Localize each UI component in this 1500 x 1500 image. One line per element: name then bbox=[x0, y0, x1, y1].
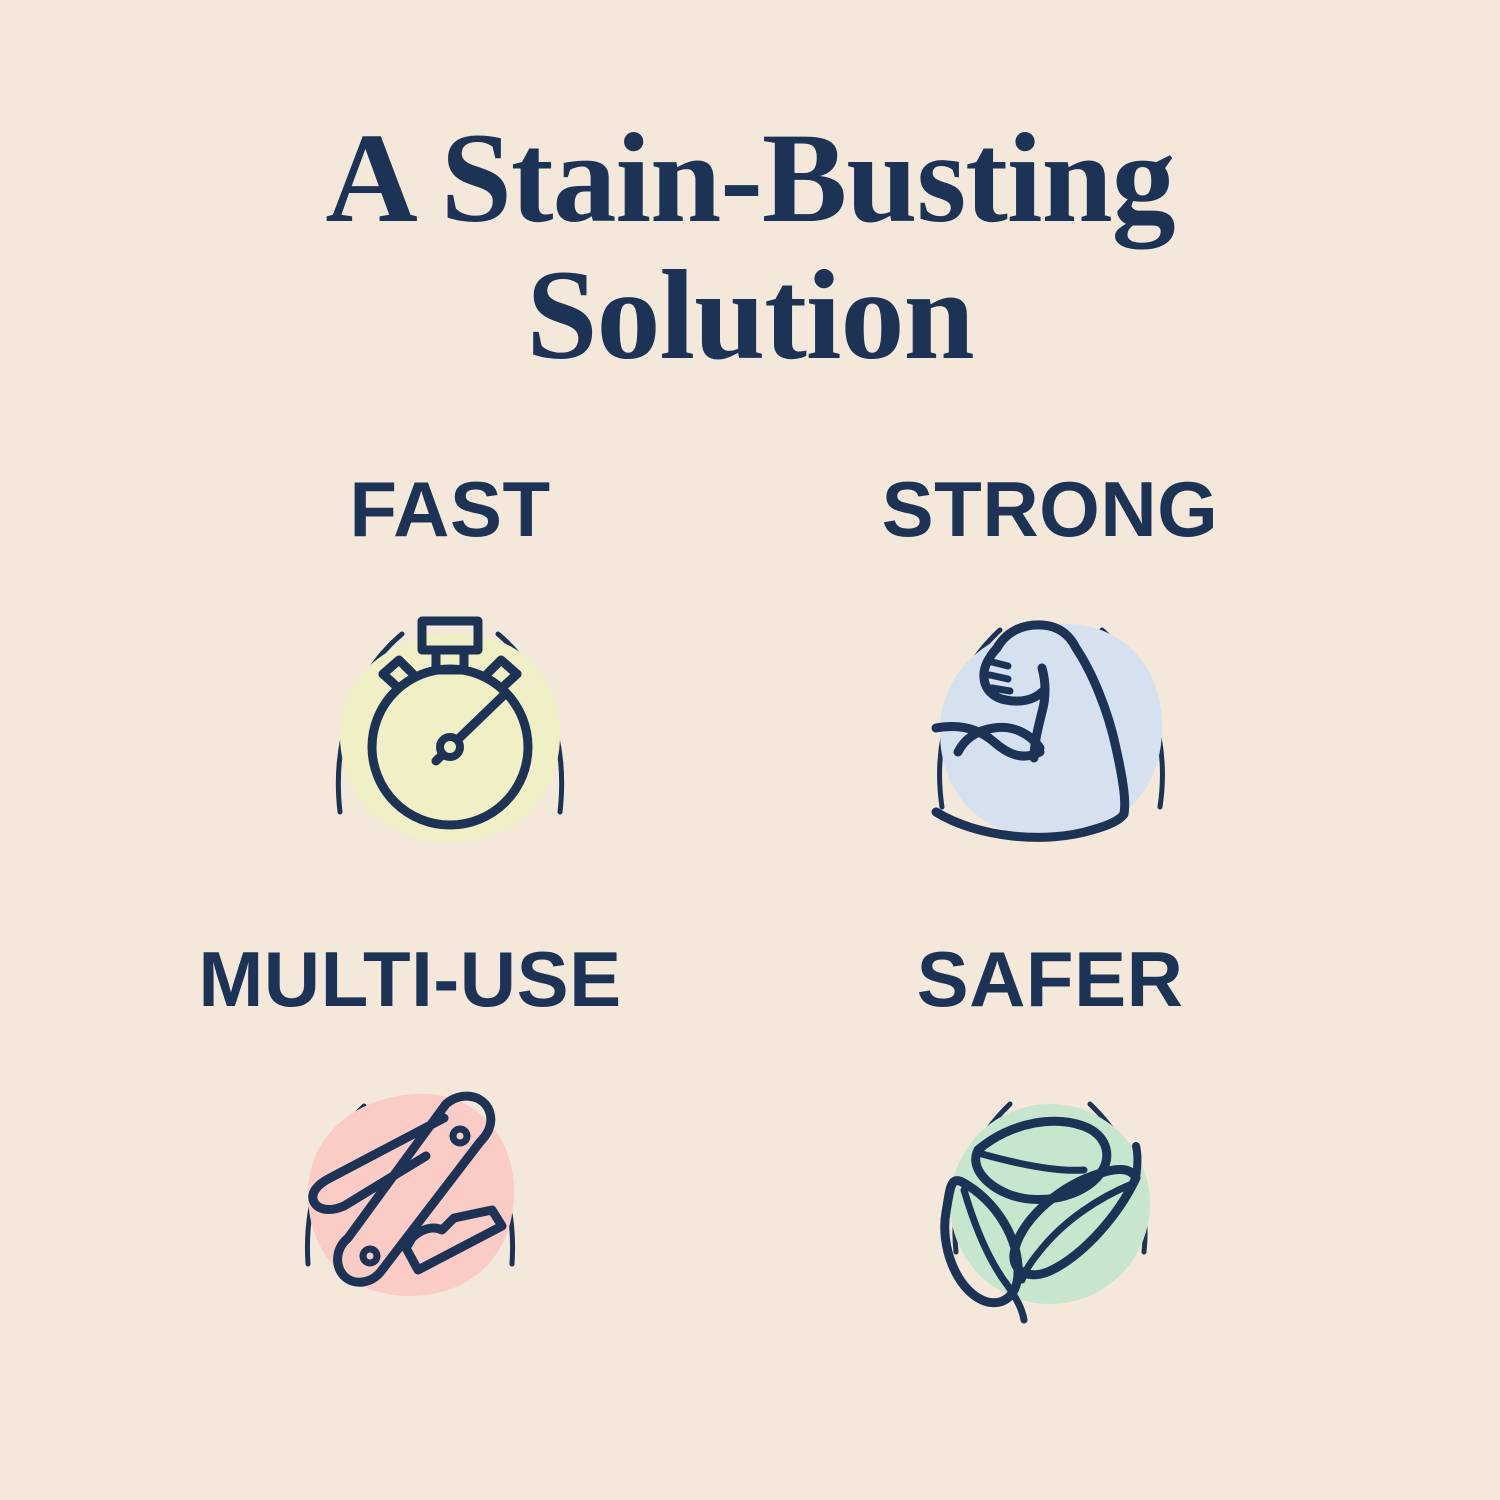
feature-item-safer: SAFER bbox=[730, 940, 1370, 1332]
feature-item-fast: FAST bbox=[130, 470, 770, 862]
feature-item-strong: STRONG bbox=[730, 470, 1370, 862]
feature-item-multi-use: MULTI-USE bbox=[90, 940, 730, 1332]
promo-graphic: A Stain-Busting Solution FAST bbox=[0, 0, 1500, 1500]
page-title: A Stain-Busting Solution bbox=[0, 110, 1500, 384]
feature-grid: FAST bbox=[0, 470, 1500, 1330]
feature-label-fast: FAST bbox=[349, 470, 550, 548]
three-leaves-icon bbox=[870, 1032, 1230, 1332]
feature-label-strong: STRONG bbox=[882, 470, 1219, 548]
pocket-knife-icon bbox=[230, 1032, 590, 1332]
flexed-bicep-icon bbox=[870, 562, 1230, 862]
headline-line-2: Solution bbox=[0, 247, 1500, 384]
stopwatch-icon bbox=[270, 562, 630, 862]
headline-line-1: A Stain-Busting bbox=[0, 110, 1500, 247]
feature-label-safer: SAFER bbox=[917, 940, 1184, 1018]
feature-label-multi-use: MULTI-USE bbox=[198, 940, 621, 1018]
